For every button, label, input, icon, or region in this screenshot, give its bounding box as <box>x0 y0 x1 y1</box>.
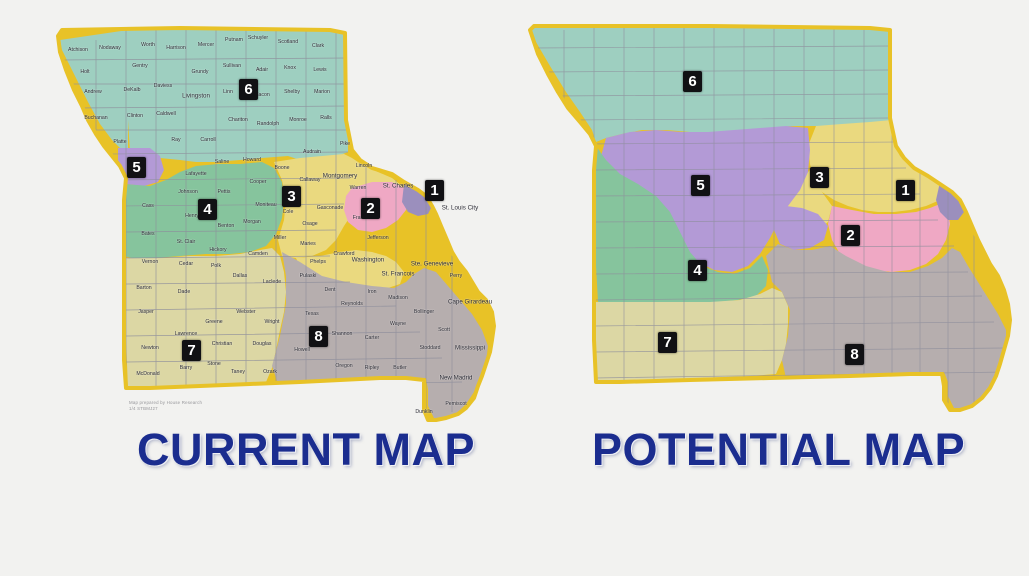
county-label: Osage <box>302 221 317 227</box>
county-label: Crawford <box>333 251 354 257</box>
county-label: Ralls <box>320 115 332 121</box>
county-label: Bates <box>141 231 154 237</box>
county-label: Reynolds <box>341 301 363 307</box>
county-label: Sullivan <box>223 63 241 69</box>
county-label: Gentry <box>132 63 148 69</box>
county-label: Vernon <box>142 259 158 265</box>
current-map-attribution: Map prepared by House Research 1/4 STBMJ… <box>129 400 202 412</box>
potential-district-badge-7: 7 <box>658 332 677 353</box>
county-label: New Madrid <box>439 375 472 382</box>
county-label: Douglas <box>252 341 271 347</box>
county-label: Harrison <box>166 45 186 51</box>
county-label: Chariton <box>228 117 248 123</box>
county-label: Henry <box>185 213 199 219</box>
county-label: Gasconade <box>317 205 344 211</box>
county-label: Schuyler <box>248 35 268 41</box>
county-label: Saline <box>215 159 229 165</box>
county-label: Cass <box>142 203 154 209</box>
county-label: Caldwell <box>156 111 176 117</box>
county-label: DeKalb <box>123 87 140 93</box>
county-label: Platte <box>113 139 126 145</box>
county-label: St. Charles <box>383 183 414 190</box>
county-label: Hickory <box>209 247 226 253</box>
county-label: Dunklin <box>415 409 432 415</box>
county-label: Callaway <box>299 177 320 183</box>
county-label: Jasper <box>138 309 154 315</box>
county-label: Pettis <box>218 189 231 195</box>
county-label: Adair <box>256 67 268 73</box>
county-label: Grundy <box>191 69 208 75</box>
county-label: Ste. Genevieve <box>411 261 453 268</box>
potential-map-panel: 1 2 3 4 5 6 7 8 ©2021 CALIPER <box>510 0 1029 430</box>
county-label: Lafayette <box>185 171 206 177</box>
county-label: Holt <box>80 69 89 75</box>
county-label: Jefferson <box>367 235 388 241</box>
county-label: Morgan <box>243 219 261 225</box>
current-district-badge-3: 3 <box>282 186 301 207</box>
county-label: Newton <box>141 345 159 351</box>
potential-district-badge-8: 8 <box>845 344 864 365</box>
county-label: Clinton <box>127 113 143 119</box>
potential-map-caption: POTENTIAL MAP <box>592 424 965 476</box>
current-district-badge-4: 4 <box>198 199 217 220</box>
county-label: Andrew <box>84 89 102 95</box>
county-label: Scott <box>438 327 450 333</box>
county-label: Cooper <box>249 179 266 185</box>
county-label: Randolph <box>257 121 279 127</box>
county-label: Clark <box>312 43 324 49</box>
county-label: Camden <box>248 251 268 257</box>
county-label: Pulaski <box>300 273 317 279</box>
county-label: Wright <box>265 319 280 325</box>
county-label: Boone <box>274 165 289 171</box>
county-label: Nodaway <box>99 45 121 51</box>
current-district-badge-6: 6 <box>239 79 258 100</box>
county-label: St. Clair <box>177 239 195 245</box>
county-label: Ozark <box>263 369 277 375</box>
screenshot-root: AtchisonNodawayWorthHarrisonMercerPutnam… <box>0 0 1029 576</box>
county-label: Polk <box>211 263 221 269</box>
county-label: Taney <box>231 369 245 375</box>
county-label: Washington <box>352 257 384 264</box>
county-label: Monroe <box>289 117 307 123</box>
county-label: Linn <box>223 89 233 95</box>
county-label: Marion <box>314 89 330 95</box>
county-label: Butler <box>393 365 407 371</box>
current-district-badge-7: 7 <box>182 340 201 361</box>
county-label: Miller <box>274 235 286 241</box>
county-label: Lawrence <box>175 331 198 337</box>
current-map-panel: AtchisonNodawayWorthHarrisonMercerPutnam… <box>0 0 520 430</box>
county-label: Shelby <box>284 89 300 95</box>
county-label: McDonald <box>136 371 159 377</box>
county-label: Madison <box>388 295 408 301</box>
county-label: Phelps <box>310 259 326 265</box>
county-label: Warren <box>350 185 367 191</box>
county-label: Atchison <box>68 47 88 53</box>
county-label: Scotland <box>278 39 298 45</box>
county-label: Barton <box>136 285 151 291</box>
county-label: Moniteau <box>255 202 276 208</box>
potential-district-badge-3: 3 <box>810 167 829 188</box>
county-label: Stone <box>207 361 221 367</box>
county-label: Mississippi <box>455 345 485 352</box>
county-label: Bollinger <box>414 309 434 315</box>
county-label: Perry <box>450 273 462 279</box>
county-label: Ray <box>171 137 180 143</box>
county-label: Dade <box>178 289 190 295</box>
county-label: Livingston <box>182 93 210 100</box>
county-label: Johnson <box>178 189 198 195</box>
county-label: Putnam <box>225 37 243 43</box>
current-district-badge-2: 2 <box>361 198 380 219</box>
county-label: Pemiscot <box>445 401 466 407</box>
county-label: Stoddard <box>419 345 440 351</box>
county-label: Cape Girardeau <box>448 299 492 306</box>
current-map-county-labels: AtchisonNodawayWorthHarrisonMercerPutnam… <box>0 0 520 430</box>
county-label: Greene <box>205 319 222 325</box>
county-label: Buchanan <box>84 115 107 121</box>
county-label: Shannon <box>332 331 353 337</box>
county-label: Cole <box>283 209 294 215</box>
county-label: Barry <box>180 365 192 371</box>
county-label: Knox <box>284 65 296 71</box>
county-label: Wayne <box>390 321 406 327</box>
county-label: Worth <box>141 42 155 48</box>
county-label: Texas <box>305 311 319 317</box>
county-label: Lewis <box>313 67 326 73</box>
county-label: Ripley <box>365 365 379 371</box>
county-label: Howell <box>294 347 310 353</box>
county-label: Daviess <box>154 83 172 89</box>
potential-map-graphic <box>510 0 1029 430</box>
county-label: Benton <box>218 223 234 229</box>
county-label: Maries <box>300 241 316 247</box>
county-label: Iron <box>368 289 377 295</box>
county-label: Pike <box>340 141 350 147</box>
potential-district-badge-1: 1 <box>896 180 915 201</box>
county-label: Carroll <box>200 137 215 143</box>
potential-district-badge-5: 5 <box>691 175 710 196</box>
current-district-badge-5: 5 <box>127 157 146 178</box>
county-label: Cedar <box>179 261 193 267</box>
potential-district-badge-4: 4 <box>688 260 707 281</box>
county-label: Mercer <box>198 42 214 48</box>
county-label: Dent <box>325 287 336 293</box>
potential-district-badge-2: 2 <box>841 225 860 246</box>
county-label: Laclede <box>263 279 281 285</box>
current-map-caption: CURRENT MAP <box>137 424 475 476</box>
county-label: Carter <box>365 335 379 341</box>
county-label: St. Francois <box>381 271 414 278</box>
current-district-badge-1: 1 <box>425 180 444 201</box>
county-label: Dallas <box>233 273 247 279</box>
current-district-badge-8: 8 <box>309 326 328 347</box>
county-label: Christian <box>212 341 232 347</box>
county-label: Audrain <box>303 149 321 155</box>
county-label: Howard <box>243 157 261 163</box>
potential-district-badge-6: 6 <box>683 71 702 92</box>
county-label: Webster <box>236 309 255 315</box>
county-label: Montgomery <box>323 173 357 180</box>
county-label: Lincoln <box>356 163 372 169</box>
county-label: St. Louis City <box>442 205 478 212</box>
county-label: Oregon <box>335 363 352 369</box>
